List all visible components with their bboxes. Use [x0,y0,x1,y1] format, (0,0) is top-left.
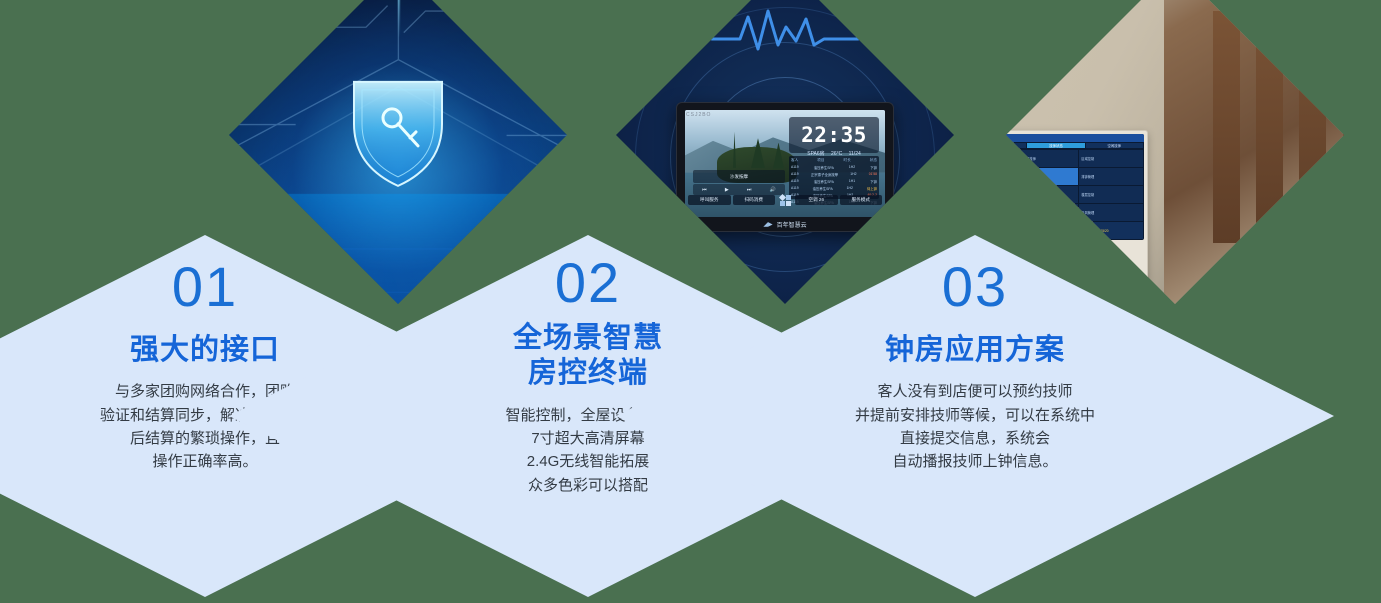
tablet-device: 22:35 SPA6房 26°C 11/24 客人 项目 时长 状态 [676,102,894,232]
smart-tablet-scene: 22:35 SPA6房 26°C 11/24 客人 项目 时长 状态 [616,0,954,304]
list-header-row: 客人 项目 时长 状态 [791,158,877,163]
desc-line: 自动播报技师上钟信息。 [717,450,1234,473]
image-diamond-cyber-shield [229,0,567,304]
light-beam [398,0,400,38]
tab-technician-list[interactable]: 技师列表 [1006,143,1026,148]
tablet-clock-widget: 22:35 SPA6房 26°C 11/24 [789,117,879,153]
media-label: 沙发按摩 [693,170,785,183]
cell[interactable]: 排钟管理 [1079,168,1143,185]
panel-row: 查看技师2区 采风管理 [1015,204,1143,221]
wood-slat [1256,0,1283,243]
room-scene: 客栈控制 技师列表 技师状态 空闲技师 点 钟 CALL钟 圆 钟 待钟区 直 … [1006,0,1344,304]
list-item: A119 油压养生SPA 1H2 待上钟 [791,186,877,191]
side-btn-dian[interactable]: 点 钟 [1006,150,1013,167]
panel-row: SPA技师 楼层控制 [1015,186,1143,203]
col-duration: 时长 [844,158,851,163]
logo-icon: ◢▶ [763,221,772,228]
scan-pay-button[interactable]: 扫码消费 [733,195,776,205]
service-mode-button[interactable]: 服务模式 [840,195,883,205]
image-diamond-smart-tablet: 22:35 SPA6房 26°C 11/24 客人 项目 时长 状态 [616,0,954,304]
tab-idle-technician[interactable]: 空闲技师 [1086,143,1143,148]
next-icon[interactable]: ⏭ [747,187,752,193]
side-btn-zhi[interactable]: 直 钟 [1006,222,1013,239]
tablet-footer: ◢▶ 百年智慧云 [677,218,893,231]
wood-slat [1213,11,1240,244]
cell[interactable]: 楼层控制 [1079,186,1143,203]
infographic-canvas: 22:35 SPA6房 26°C 11/24 客人 项目 时长 状态 [0,0,1381,603]
cell[interactable]: 保健专事技师 [1015,150,1079,167]
image-diamond-room-panel: 客栈控制 技师列表 技师状态 空闲技师 点 钟 CALL钟 圆 钟 待钟区 直 … [1006,0,1344,304]
card-title: 钟房应用方案 [717,333,1234,368]
list-item: A119 油压养生SPA 1H1 下钟 [791,179,877,184]
clock-time: 22:35 [789,123,879,147]
list-item: A119 油压养生SPA 1H2 下钟 [791,165,877,170]
tab-technician-status[interactable]: 技师状态 [1027,143,1084,148]
cell[interactable]: 采风管理 [1079,204,1143,221]
cyber-shield-icon [229,0,567,304]
panel-tabs[interactable]: 技师列表 技师状态 空闲技师 [1006,142,1144,149]
play-icon[interactable]: ▶ [725,187,729,193]
shield-lock-icon [338,66,458,194]
hw-key[interactable] [1035,242,1044,246]
cell[interactable]: 查看技师2区 [1015,204,1079,221]
list-item: A119 正宗泰子全身按摩 1H2 01'58 [791,172,877,177]
prev-icon[interactable]: ⏮ [702,187,707,193]
card-description: 客人没有到店便可以预约技师 并提前安排技师等候，可以在系统中 直接提交信息，系统… [717,380,1234,473]
side-btn-waiting[interactable]: 待钟区 [1006,204,1013,221]
tablet-screen: 22:35 SPA6房 26°C 11/24 客人 项目 时长 状态 [685,110,885,217]
panel-side-buttons[interactable]: 点 钟 CALL钟 圆 钟 待钟区 直 钟 [1006,149,1014,240]
cell[interactable]: 保健技师 [1015,168,1079,185]
heartbeat-pulse-icon [710,5,860,57]
tablet-button-bar[interactable]: 呼叫服务 扫码消费 空调 26 服务模式 [685,194,885,207]
volume-icon[interactable]: 🔊 [770,187,776,193]
tablet-service-list: 客人 项目 时长 状态 A119 油压养生SPA 1H2 下钟 A119 [789,156,879,199]
panel-row: 查看技师3区 当前技师数量15/20 [1015,222,1143,239]
wood-slat [1299,0,1326,243]
card-title-line: 钟房应用方案 [717,333,1234,368]
call-service-button[interactable]: 呼叫服务 [688,195,731,205]
tablet-model-label: CSJ2BO [686,112,711,118]
panel-header: 客栈控制 [1006,134,1144,142]
col-status: 状态 [870,158,877,163]
panel-cell-grid[interactable]: 保健专事技师 区域控制 保健技师 排钟管理 SPA技师 楼层控制 [1014,149,1144,240]
cell[interactable]: 当前技师数量15/20 [1079,222,1143,239]
hw-key[interactable] [1079,242,1088,246]
wood-slat [1343,0,1344,243]
hw-key[interactable] [1068,242,1077,246]
side-btn-call[interactable]: CALL钟 [1006,168,1013,185]
desc-line: 直接提交信息，系统会 [717,427,1234,450]
desc-line: 客人没有到店便可以预约技师 [717,380,1234,403]
col-item: 项目 [817,158,824,163]
wall-control-panel[interactable]: 客栈控制 技师列表 技师状态 空闲技师 点 钟 CALL钟 圆 钟 待钟区 直 … [1006,130,1148,281]
card-title-line: 全场景智慧 [365,321,810,356]
light-speck [549,222,551,224]
panel-hardware-keys[interactable] [1006,240,1144,246]
panel-row: 保健技师 排钟管理 [1015,168,1143,185]
panel-body: 点 钟 CALL钟 圆 钟 待钟区 直 钟 保健专事技师 区域控制 [1006,149,1144,240]
apps-grid-icon[interactable] [777,194,793,207]
col-guest: 客人 [791,158,798,163]
plant [1206,300,1240,304]
desc-line: 并提前安排技师等候，可以在系统中 [717,404,1234,427]
tablet-brand: 百年智慧云 [777,220,807,229]
card-03: 03 钟房应用方案 客人没有到店便可以预约技师 并提前安排技师等候，可以在系统中… [616,235,1334,597]
panel-row: 保健专事技师 区域控制 [1015,150,1143,167]
aircon-button[interactable]: 空调 26 [795,195,838,205]
cell[interactable]: SPA技师 [1015,186,1079,203]
light-speck [290,254,293,257]
panel-screen: 客栈控制 技师列表 技师状态 空闲技师 点 钟 CALL钟 圆 钟 待钟区 直 … [1006,134,1144,240]
cell[interactable]: 查看技师3区 [1015,222,1079,239]
side-btn-yuan[interactable]: 圆 钟 [1006,186,1013,203]
hw-key[interactable] [1046,242,1055,246]
cell[interactable]: 区域控制 [1079,150,1143,167]
hw-key[interactable] [1057,242,1066,246]
hw-key[interactable] [1024,242,1033,246]
